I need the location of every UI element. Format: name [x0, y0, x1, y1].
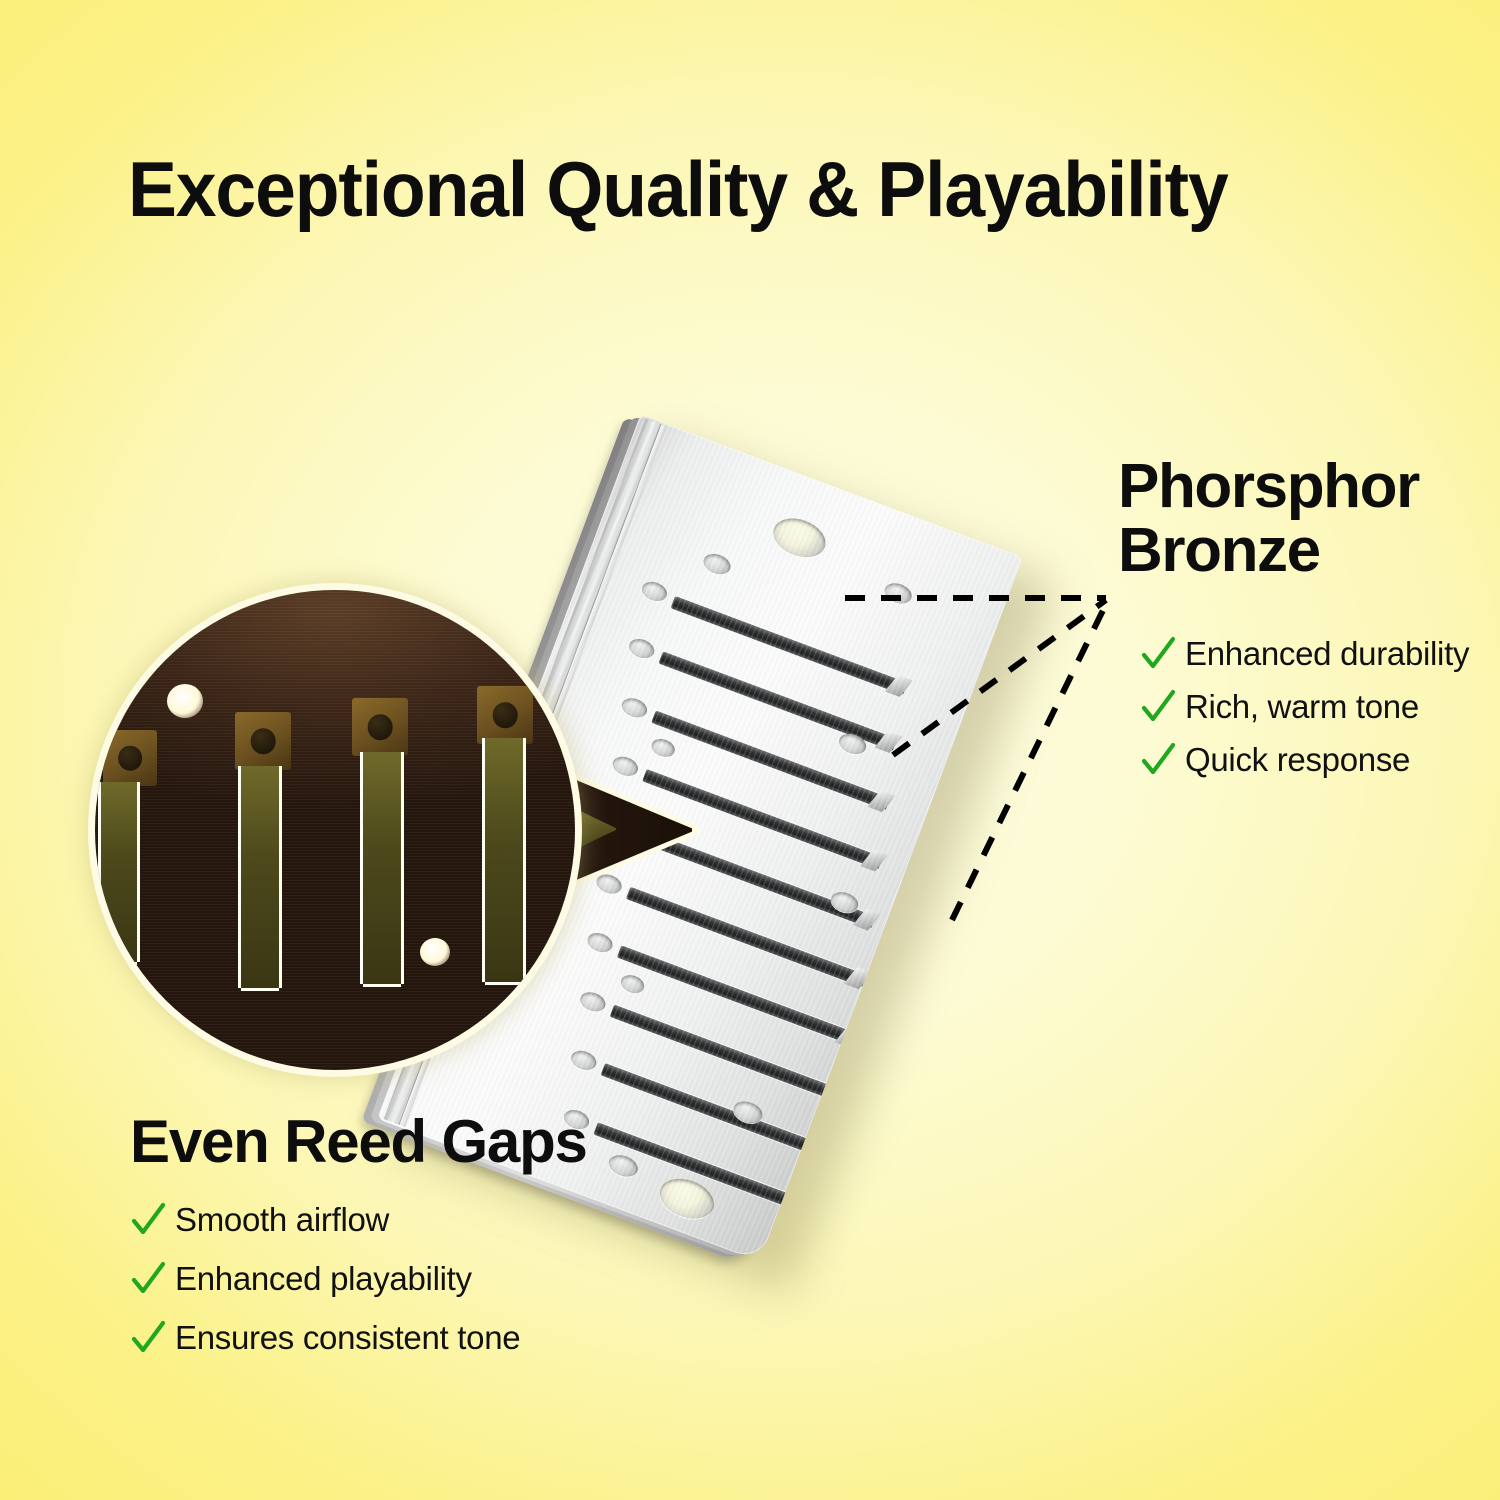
bullet-list-even-reed-gaps: Smooth airflow Enhanced playability Ensu… [130, 1200, 600, 1377]
heading-line-2: Bronze [1118, 519, 1478, 583]
list-item-label: Enhanced playability [175, 1260, 472, 1298]
list-item-label: Enhanced durability [1185, 635, 1469, 673]
list-item: Quick response [1140, 740, 1490, 780]
bullet-list-phosphor-bronze: Enhanced durability Rich, warm tone Quic… [1140, 634, 1490, 793]
list-item: Ensures consistent tone [130, 1318, 600, 1358]
list-item-label: Ensures consistent tone [175, 1319, 520, 1357]
list-item-label: Rich, warm tone [1185, 688, 1419, 726]
list-item: Enhanced durability [1140, 634, 1490, 674]
check-icon [1140, 634, 1176, 674]
heading-line-1: Phorsphor [1118, 455, 1478, 519]
list-item-label: Quick response [1185, 741, 1410, 779]
check-icon [1140, 687, 1176, 727]
check-icon [130, 1318, 166, 1358]
leader-line-3 [952, 602, 1107, 920]
check-icon [1140, 740, 1176, 780]
list-item-label: Smooth airflow [175, 1201, 389, 1239]
leader-line-2 [893, 600, 1106, 755]
check-icon [130, 1259, 166, 1299]
infographic-canvas: Exceptional Quality & Playability [0, 0, 1500, 1500]
list-item: Rich, warm tone [1140, 687, 1490, 727]
list-item: Enhanced playability [130, 1259, 600, 1299]
check-icon [130, 1200, 166, 1240]
section-heading-even-reed-gaps: Even Reed Gaps [130, 1112, 690, 1172]
section-heading-phosphor-bronze: Phorsphor Bronze [1118, 455, 1478, 583]
list-item: Smooth airflow [130, 1200, 600, 1240]
